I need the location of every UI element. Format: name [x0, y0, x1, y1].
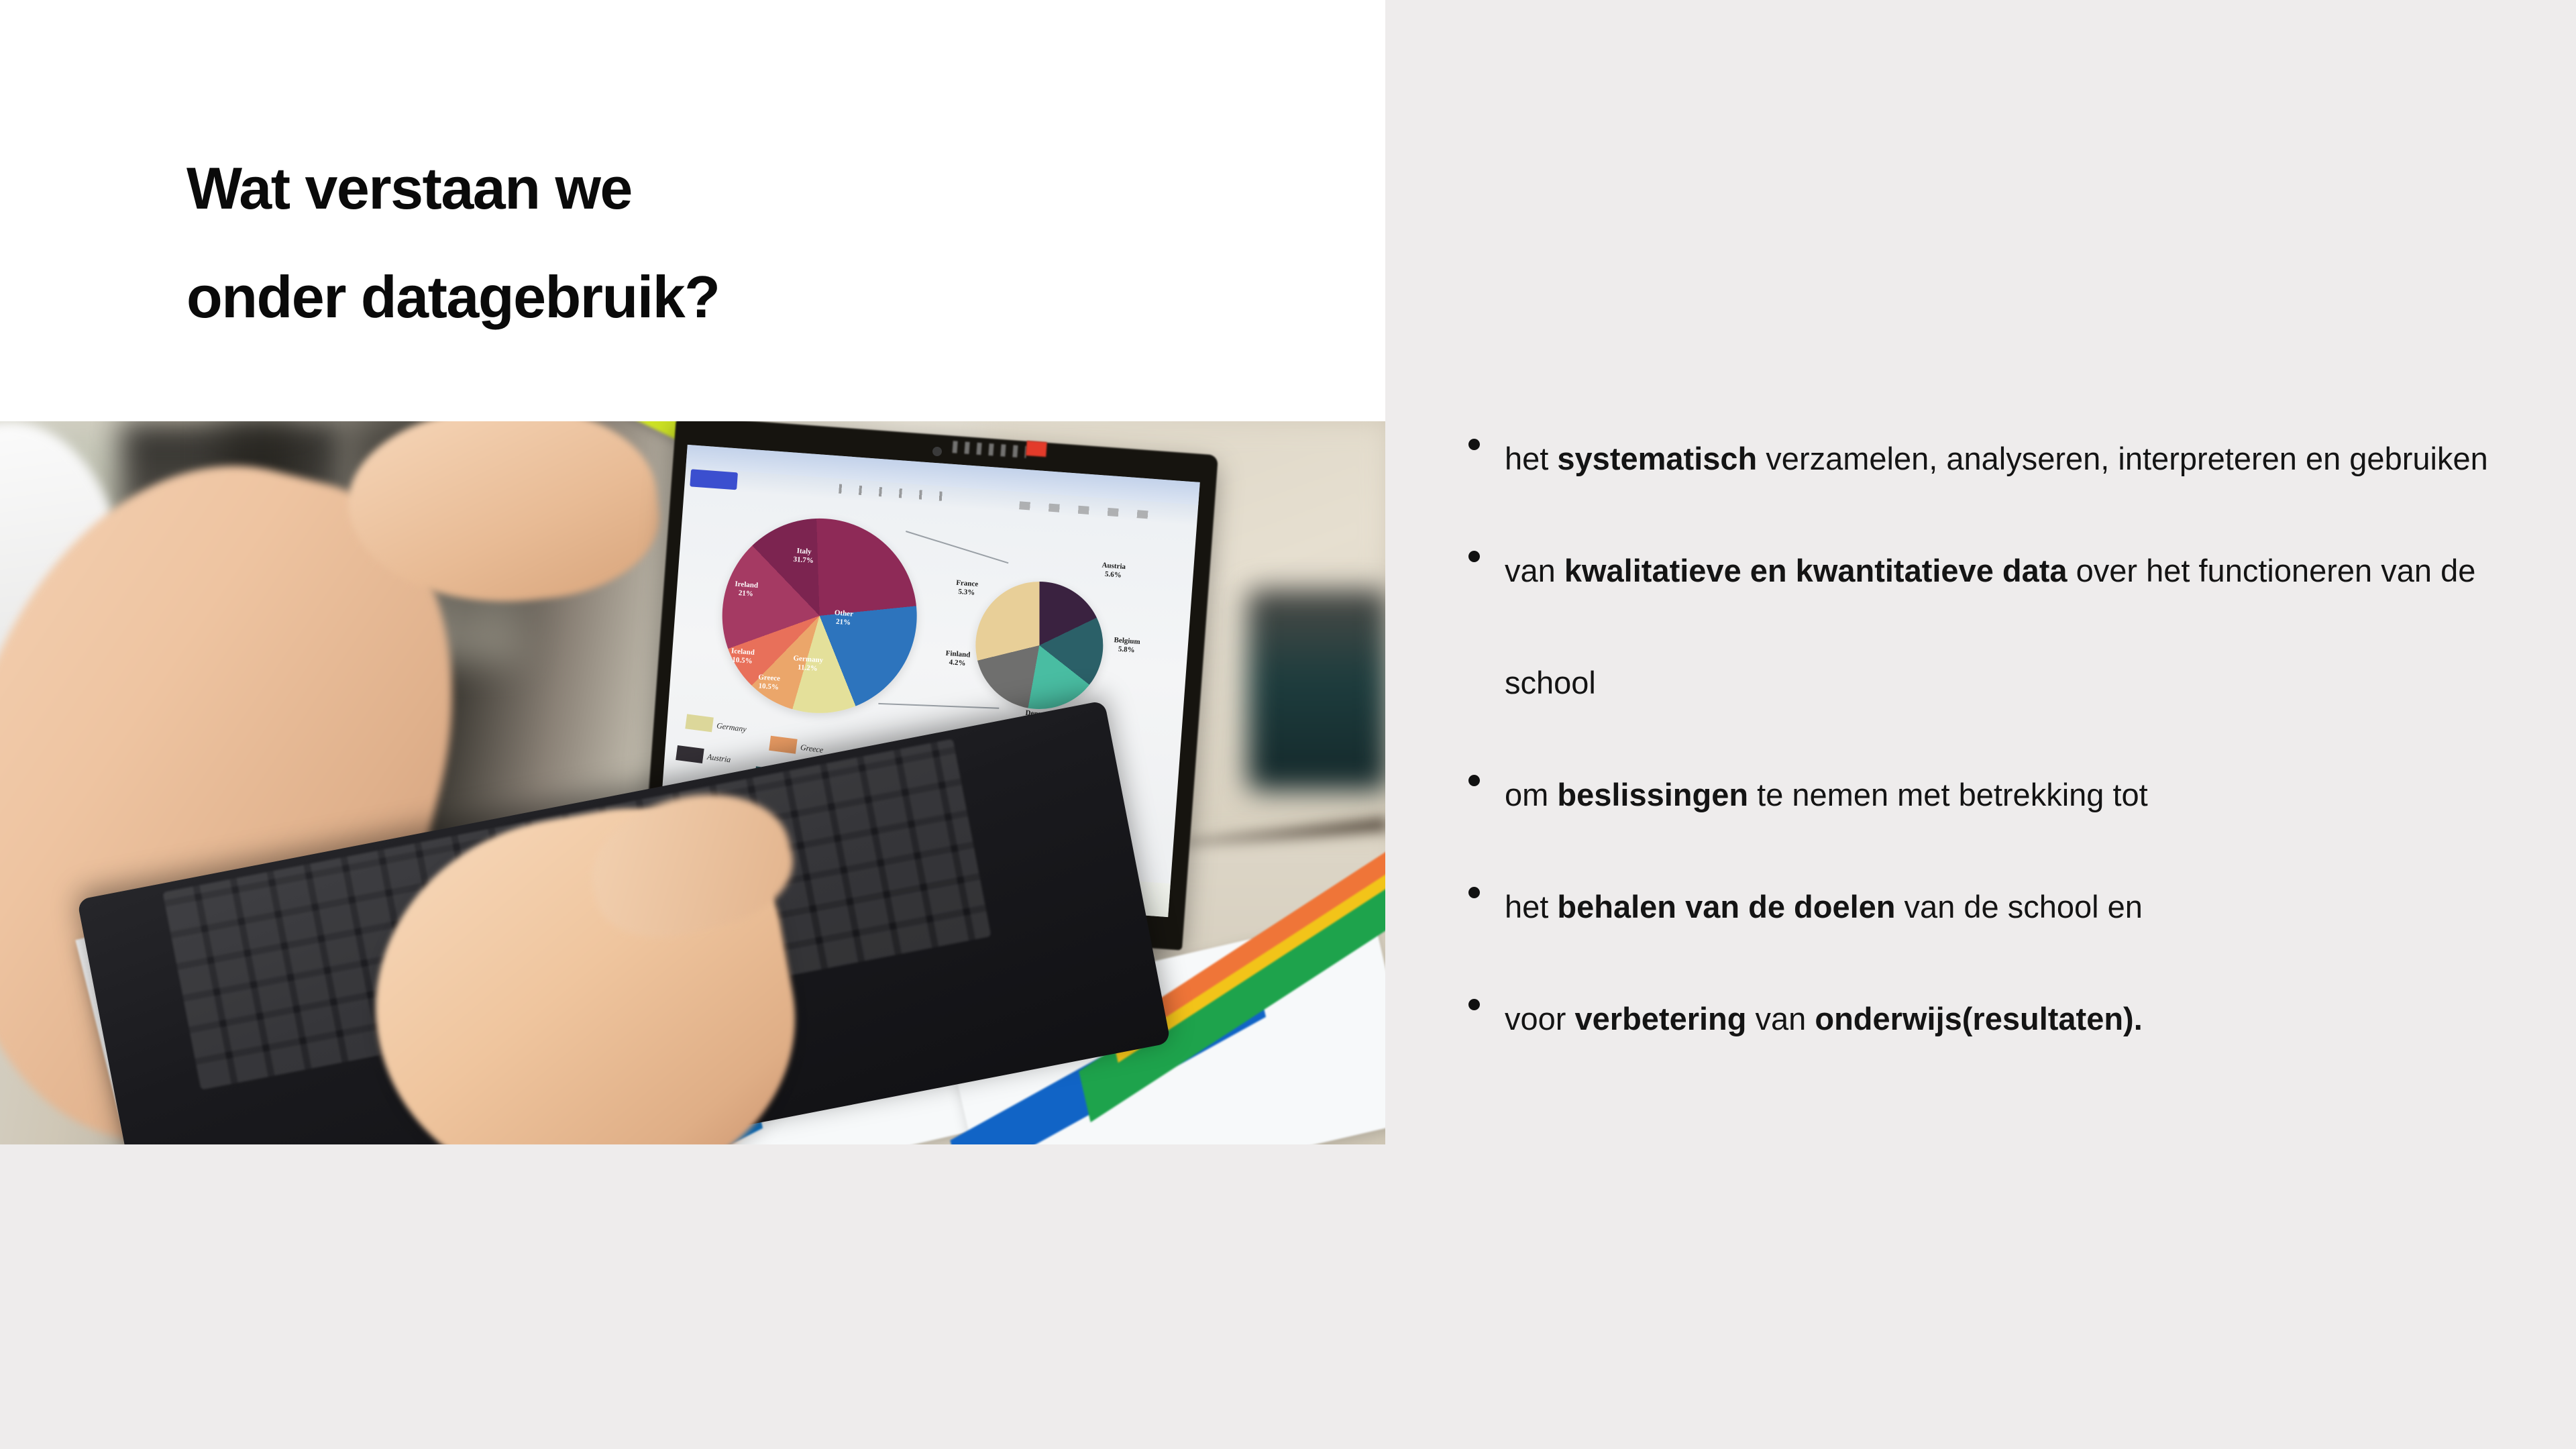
screen-toolbar-icons	[839, 484, 953, 502]
screen-app-accent-button	[690, 469, 738, 490]
legend-swatch-austria	[676, 745, 704, 763]
page-title: Wat verstaan we onder datagebruik?	[186, 134, 1260, 352]
bullet-text-4: het behalen van de doelen van de school …	[1505, 851, 2512, 963]
bullet-dot-icon	[1468, 775, 1480, 786]
page-title-line-1: Wat verstaan we	[186, 134, 1260, 243]
left-panel: Wat verstaan we onder datagebruik?	[0, 0, 1385, 1144]
legend-item-austria: Austria	[676, 745, 731, 767]
screen-pie-label-germany: Germany 11.2%	[786, 654, 829, 674]
bullet-dot-icon	[1468, 887, 1480, 898]
list-item: van kwalitatieve en kwantitatieve data o…	[1466, 515, 2512, 739]
photo-laptop-bezel-sticker	[1026, 441, 1046, 457]
bullet-list: het systematisch verzamelen, analyseren,…	[1466, 402, 2512, 1075]
list-item: om beslissingen te nemen met betrekking …	[1466, 739, 2512, 851]
list-item: het behalen van de doelen van de school …	[1466, 851, 2512, 963]
screen-pie-label-ireland: Ireland 21%	[724, 580, 767, 600]
screen-subpie-label-belgium: Belgium 5.8%	[1103, 635, 1151, 656]
list-item: het systematisch verzamelen, analyseren,…	[1466, 402, 2512, 515]
screen-subpie-label-finland: Finland 4.2%	[935, 649, 981, 669]
bullet-dot-icon	[1468, 551, 1480, 562]
screen-pie-label-iceland: Iceland 10.5%	[722, 647, 763, 667]
list-item: voor verbetering van onderwijs(resultate…	[1466, 963, 2512, 1075]
screen-pie-label-other: Other 21%	[824, 608, 864, 628]
bullet-dot-icon	[1468, 439, 1480, 450]
legend-swatch-greece	[769, 736, 798, 754]
bullet-text-3: om beslissingen te nemen met betrekking …	[1505, 739, 2512, 851]
legend-item-greece: Greece	[769, 736, 824, 757]
page-title-line-2: onder datagebruik?	[186, 243, 1260, 352]
legend-item-germany: Germany	[685, 714, 747, 736]
screen-subpie-label-austria: Austria 5.6%	[1089, 560, 1138, 581]
bullet-text-2: van kwalitatieve en kwantitatieve data o…	[1505, 515, 2512, 739]
screen-pie-label-greece: Greece 10.5%	[749, 673, 789, 693]
legend-swatch-germany	[685, 714, 714, 732]
screen-pie-label-italy: Italy 31.7%	[783, 546, 824, 566]
screen-pie-chart-secondary	[975, 582, 1104, 710]
bullet-text-5: voor verbetering van onderwijs(resultate…	[1505, 963, 2512, 1075]
photo-background-dark-object	[1248, 589, 1385, 790]
screen-subpie-label-france: France 5.3%	[944, 578, 989, 599]
screen-pie-connector-bottom	[878, 703, 999, 709]
screen-pie-connector-top	[906, 531, 1008, 563]
photo-person-with-laptop: Italy 31.7% Other 21% Germany 11.2% Gree…	[0, 421, 1385, 1144]
bullet-text-1: het systematisch verzamelen, analyseren,…	[1505, 402, 2512, 515]
bullet-dot-icon	[1468, 999, 1480, 1010]
screen-toolbar-right-icons	[1019, 501, 1153, 519]
